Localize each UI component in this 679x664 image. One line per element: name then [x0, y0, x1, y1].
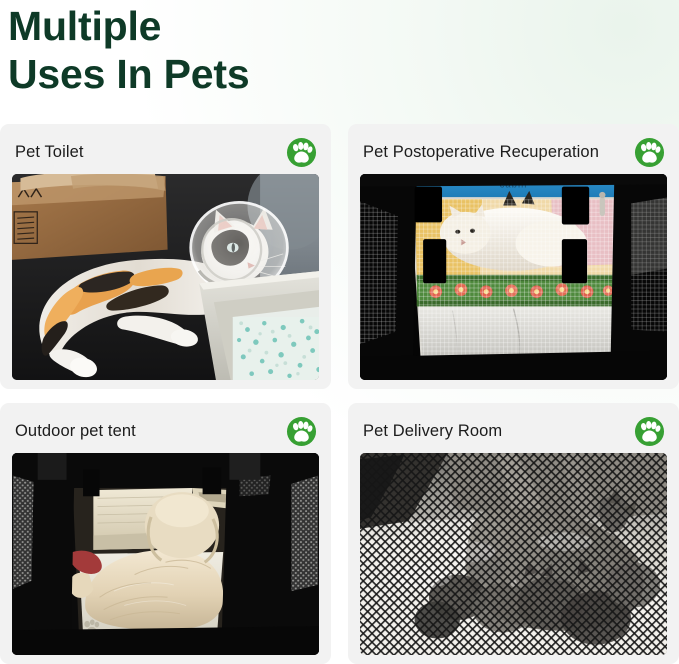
use-case-grid: Pet Toilet — [0, 124, 679, 664]
card-header: Pet Postoperative Recuperation — [360, 134, 667, 170]
paw-icon — [286, 137, 317, 168]
promo-page: Multiple Uses In Pets Pet Toilet — [0, 0, 679, 664]
card-photo-pet-toilet — [12, 174, 319, 380]
use-case-card-pet-toilet: Pet Toilet — [0, 124, 331, 389]
card-title: Pet Delivery Room — [363, 421, 502, 441]
card-photo-outdoor-pet-tent — [12, 453, 319, 655]
paw-icon — [634, 137, 665, 168]
card-header: Pet Toilet — [12, 134, 319, 170]
page-title-line-1: Multiple — [8, 0, 671, 50]
use-case-card-postoperative-recuperation: Pet Postoperative Recuperation — [348, 124, 679, 389]
paw-icon — [634, 416, 665, 447]
card-title: Outdoor pet tent — [15, 421, 136, 441]
paw-icon — [286, 416, 317, 447]
use-case-card-pet-delivery-room: Pet Delivery Room — [348, 403, 679, 664]
card-photo-postoperative-recuperation: cabin — [360, 174, 667, 380]
card-header: Pet Delivery Room — [360, 413, 667, 449]
use-case-card-outdoor-pet-tent: Outdoor pet tent — [0, 403, 331, 664]
card-title: Pet Postoperative Recuperation — [363, 142, 599, 162]
card-title: Pet Toilet — [15, 142, 84, 162]
page-title: Multiple Uses In Pets — [0, 0, 679, 98]
page-title-line-2: Uses In Pets — [8, 50, 671, 98]
card-header: Outdoor pet tent — [12, 413, 319, 449]
card-photo-pet-delivery-room — [360, 453, 667, 655]
